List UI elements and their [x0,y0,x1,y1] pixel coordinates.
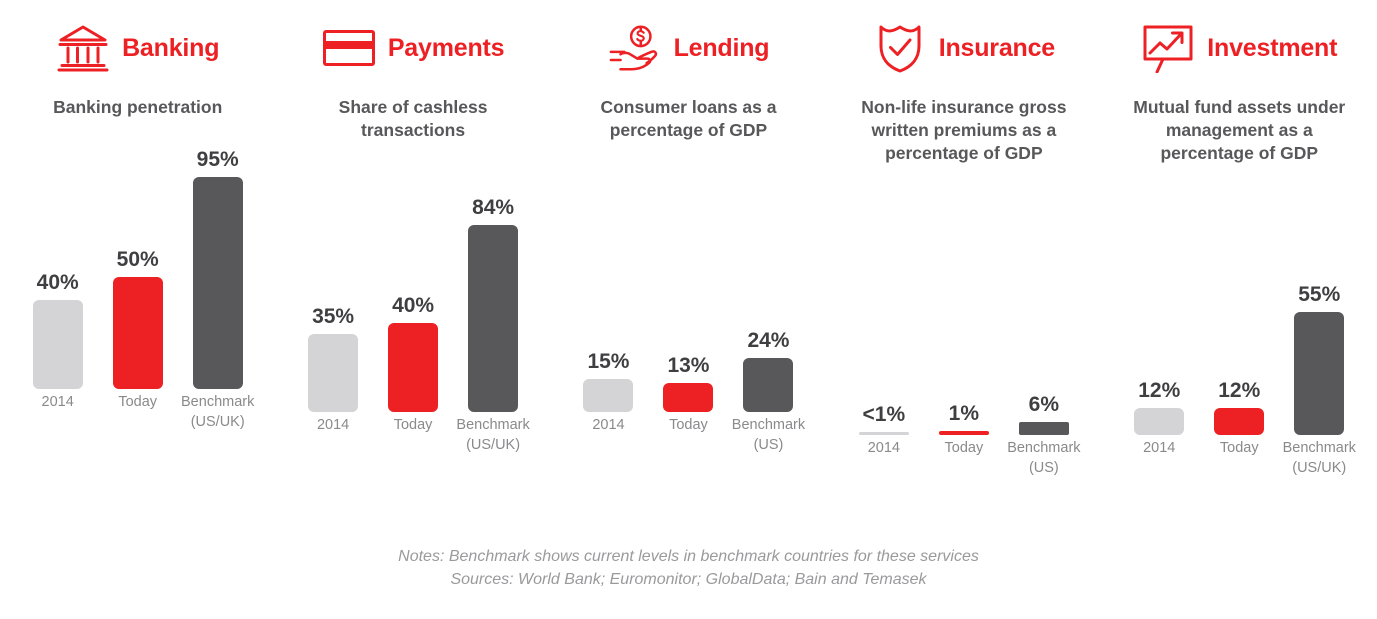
bar-rect[interactable] [388,323,438,412]
bar-item[interactable]: <1% [844,185,924,435]
bar-plot: 40%50%95%2014TodayBenchmark(US/UK) [0,123,275,453]
category-header: Lending [551,0,826,96]
category-group: PaymentsShare of cashless transactions35… [275,0,550,499]
axis-label: 2014 [293,416,373,476]
category-name: Investment [1207,34,1337,63]
bar-value-label: 6% [1029,393,1059,417]
presentation-growth-icon [1141,21,1195,75]
axis-label-line1: 2014 [868,440,900,456]
bar-item[interactable]: 84% [453,162,533,412]
bar-row: 12%12%55% [1102,185,1377,435]
bar-row: 35%40%84% [275,162,550,412]
axis-label-row: 2014TodayBenchmark(US/UK) [275,416,550,476]
bar-row: 40%50%95% [0,139,275,389]
bar-item[interactable]: 1% [924,185,1004,435]
bar-rect[interactable] [859,432,909,435]
bar-item[interactable]: 12% [1199,185,1279,435]
category-group: InsuranceNon-life insurance gross writte… [826,0,1101,499]
axis-label: 2014 [18,393,98,453]
bar-row: 15%13%24% [551,162,826,412]
shield-check-icon [873,21,927,75]
category-name: Banking [122,34,219,63]
bar-item[interactable]: 6% [1004,185,1084,435]
axis-label-line1: Benchmark [1283,440,1356,456]
bar-value-label: 40% [37,271,79,295]
category-group: BankingBanking penetration40%50%95%2014T… [0,0,275,499]
axis-label-line1: Benchmark [1007,440,1080,456]
axis-label: Benchmark(US/UK) [1279,439,1359,499]
axis-label-line1: Today [669,417,708,433]
category-group-row: BankingBanking penetration40%50%95%2014T… [0,0,1377,499]
bar-value-label: 55% [1298,283,1340,307]
bar-value-label: 15% [587,350,629,374]
axis-label: Today [648,416,728,476]
bar-rect[interactable] [308,334,358,412]
bar-plot: <1%1%6%2014TodayBenchmark(US) [826,169,1101,499]
metric-label: Share of cashless transactions [306,96,521,142]
credit-card-icon [322,21,376,75]
category-group: InvestmentMutual fund assets under manag… [1102,0,1377,499]
bar-value-label: 24% [747,329,789,353]
axis-label-row: 2014TodayBenchmark(US) [826,439,1101,499]
axis-label-row: 2014TodayBenchmark(US/UK) [1102,439,1377,499]
bar-value-label: 84% [472,196,514,220]
bar-value-label: <1% [863,403,906,427]
axis-label: 2014 [844,439,924,499]
category-name: Payments [388,34,505,63]
axis-label-line1: Today [945,440,984,456]
bar-item[interactable]: 40% [18,139,98,389]
axis-label: 2014 [1119,439,1199,499]
bank-icon [56,21,110,75]
footnotes: Notes: Benchmark shows current levels in… [0,545,1377,591]
bar-value-label: 35% [312,305,354,329]
axis-label: Today [373,416,453,476]
bar-value-label: 95% [197,148,239,172]
axis-label-line1: Benchmark [456,417,529,433]
bar-value-label: 12% [1218,379,1260,403]
axis-label-line1: Today [1220,440,1259,456]
bar-item[interactable]: 13% [648,162,728,412]
bar-item[interactable]: 15% [568,162,648,412]
bar-plot: 12%12%55%2014TodayBenchmark(US/UK) [1102,169,1377,499]
axis-label-line1: 2014 [42,394,74,410]
metric-label: Consumer loans as a percentage of GDP [581,96,796,142]
axis-label: Today [1199,439,1279,499]
category-name: Insurance [939,34,1055,63]
axis-label-line1: Benchmark [732,417,805,433]
bar-item[interactable]: 12% [1119,185,1199,435]
axis-label-line1: 2014 [1143,440,1175,456]
bar-item[interactable]: 40% [373,162,453,412]
bar-rect[interactable] [1134,408,1184,435]
axis-label-row: 2014TodayBenchmark(US) [551,416,826,476]
metric-label: Banking penetration [30,96,245,119]
bar-item[interactable]: 50% [98,139,178,389]
bar-value-label: 13% [667,354,709,378]
bar-rect[interactable] [663,383,713,412]
bar-item[interactable]: 24% [728,162,808,412]
axis-label-line1: 2014 [317,417,349,433]
bar-row: <1%1%6% [826,185,1101,435]
bar-plot: 35%40%84%2014TodayBenchmark(US/UK) [275,146,550,476]
footnote-notes: Notes: Benchmark shows current levels in… [0,545,1377,568]
footnote-sources: Sources: World Bank; Euromonitor; Global… [0,568,1377,591]
axis-label: Benchmark(US) [1004,439,1084,499]
axis-label-line2: (US) [1004,459,1084,479]
category-header: Banking [0,0,275,96]
axis-label: Benchmark(US/UK) [178,393,258,453]
category-group: LendingConsumer loans as a percentage of… [551,0,826,499]
hand-coin-icon [608,21,662,75]
bar-item[interactable]: 95% [178,139,258,389]
axis-label-line2: (US/UK) [453,436,533,456]
bar-rect[interactable] [743,358,793,412]
axis-label-line1: Today [394,417,433,433]
bar-rect[interactable] [33,300,83,389]
bar-plot: 15%13%24%2014TodayBenchmark(US) [551,146,826,476]
chart-canvas: BankingBanking penetration40%50%95%2014T… [0,0,1377,619]
axis-label: Benchmark(US/UK) [453,416,533,476]
axis-label: 2014 [568,416,648,476]
axis-label-line1: 2014 [592,417,624,433]
bar-rect[interactable] [113,277,163,389]
bar-item[interactable]: 35% [293,162,373,412]
axis-label: Today [98,393,178,453]
category-header: Investment [1102,0,1377,96]
bar-value-label: 1% [949,402,979,426]
axis-label-line1: Benchmark [181,394,254,410]
bar-item[interactable]: 55% [1279,185,1359,435]
axis-label-row: 2014TodayBenchmark(US/UK) [0,393,275,453]
axis-label-line2: (US/UK) [1279,459,1359,479]
bar-rect[interactable] [939,431,989,435]
axis-label: Benchmark(US) [728,416,808,476]
category-header: Payments [275,0,550,96]
bar-rect[interactable] [1019,422,1069,435]
axis-label-line2: (US) [728,436,808,456]
bar-rect[interactable] [1294,312,1344,435]
bar-rect[interactable] [583,379,633,412]
axis-label-line2: (US/UK) [178,413,258,433]
metric-label: Mutual fund assets under management as a… [1132,96,1347,165]
bar-rect[interactable] [468,225,518,412]
bar-value-label: 50% [117,248,159,272]
category-header: Insurance [826,0,1101,96]
metric-label: Non-life insurance gross written premium… [856,96,1071,165]
bar-value-label: 12% [1138,379,1180,403]
axis-label-line1: Today [118,394,157,410]
bar-rect[interactable] [193,177,243,389]
bar-rect[interactable] [1214,408,1264,435]
bar-value-label: 40% [392,294,434,318]
category-name: Lending [674,34,770,63]
axis-label: Today [924,439,1004,499]
